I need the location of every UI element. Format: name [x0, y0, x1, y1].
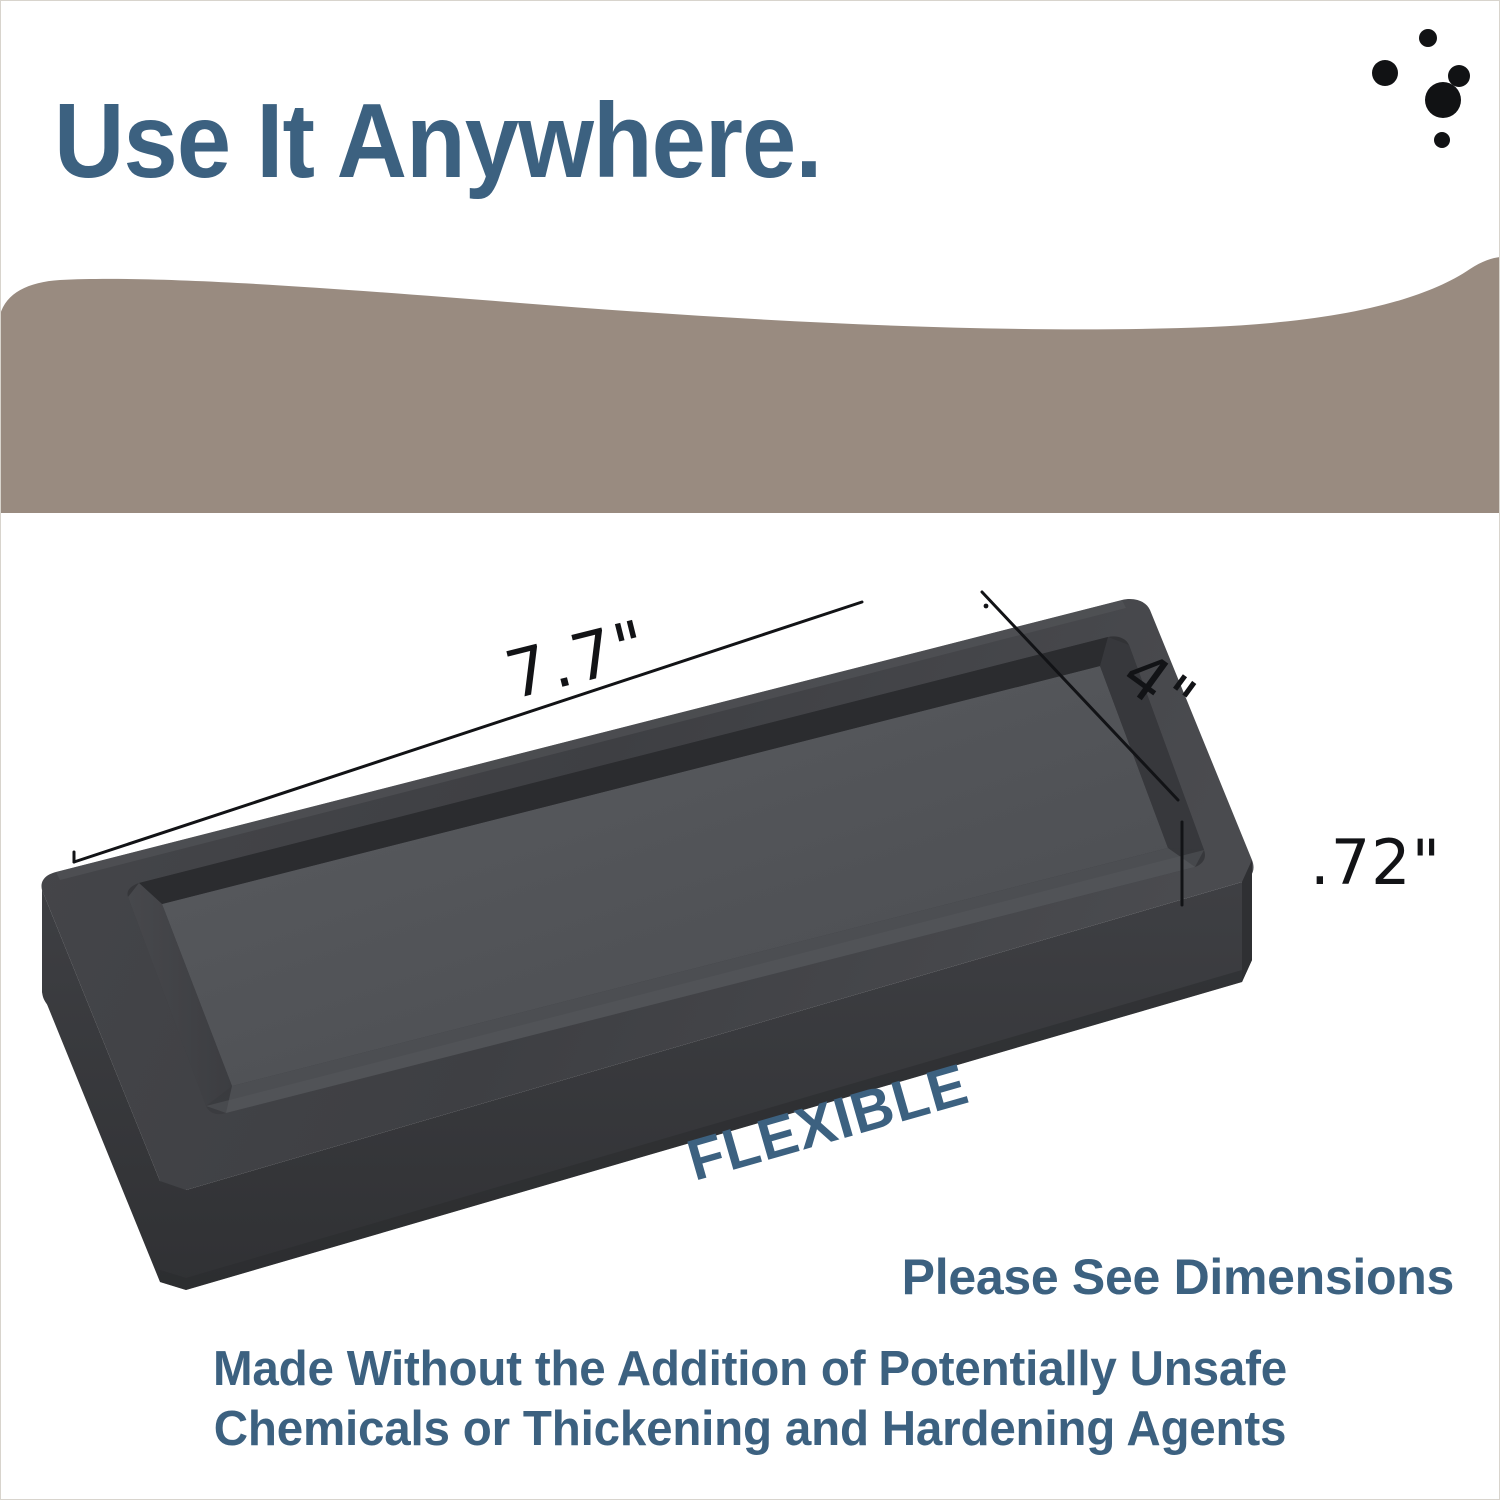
decor-dot: [1419, 29, 1437, 47]
safety-claim: Made Without the Addition of Potentially…: [0, 1340, 1500, 1460]
dot-cluster-decoration: [1360, 20, 1490, 160]
decor-dot: [1372, 60, 1398, 86]
dimension-height-label: .72": [1310, 826, 1441, 899]
page-title: Use It Anywhere.: [54, 88, 821, 194]
decor-dot: [1434, 132, 1450, 148]
decor-dot: [1425, 82, 1461, 118]
safety-claim-line-2: Chemicals or Thickening and Hardening Ag…: [23, 1400, 1478, 1460]
product-image: spacewiser spacewiser: [0, 560, 1500, 1320]
see-dimensions-note: Please See Dimensions: [902, 1248, 1454, 1306]
product-infographic: Use It Anywhere. The Flexible Silicone T…: [0, 0, 1500, 1500]
subtitle-banner: The Flexible Silicone Tray For Wet or Dr…: [0, 255, 1500, 513]
safety-claim-line-1: Made Without the Addition of Potentially…: [23, 1340, 1478, 1400]
